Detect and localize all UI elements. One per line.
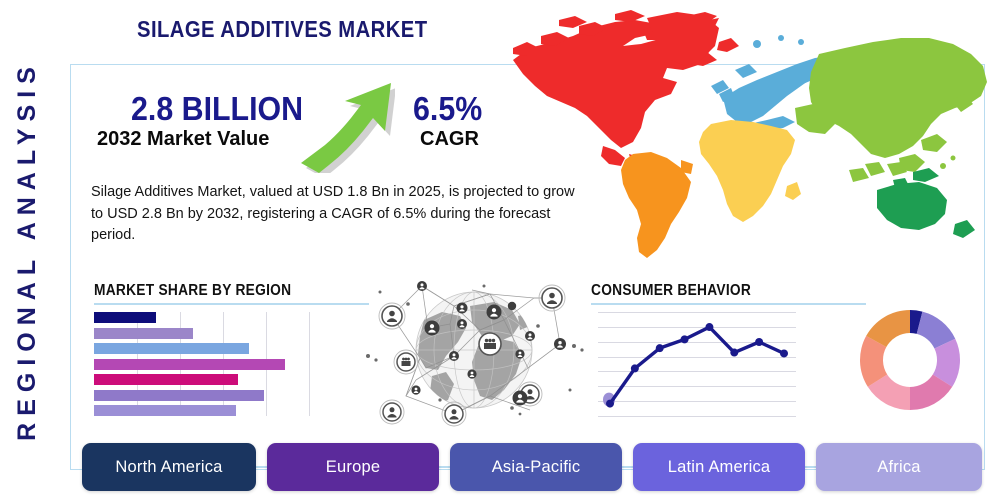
market-share-divider <box>94 303 369 305</box>
bar-segment <box>94 343 249 354</box>
page-title: SILAGE ADDITIVES MARKET <box>137 16 427 43</box>
world-map-illustration <box>495 8 995 266</box>
bar-chart-bars <box>94 312 309 416</box>
bar-segment <box>94 374 238 385</box>
bar-segment <box>94 405 236 416</box>
line-marker <box>730 349 738 357</box>
network-globe-illustration <box>362 272 590 428</box>
consumer-behavior-heading: CONSUMER BEHAVIOR <box>591 282 751 300</box>
donut-chart <box>854 304 966 416</box>
region-button-north-america[interactable]: North America <box>82 443 256 491</box>
line-marker <box>780 349 788 357</box>
line-marker <box>606 400 614 408</box>
line-chart-series <box>598 312 796 416</box>
bar-gridline <box>309 312 310 416</box>
bar-segment <box>94 328 193 339</box>
region-button-latin-america[interactable]: Latin America <box>633 443 805 491</box>
line-marker <box>681 335 689 343</box>
bar-segment <box>94 390 264 401</box>
cagr-figure: 6.5% <box>413 90 482 128</box>
bar-row <box>94 343 309 354</box>
region-button-africa[interactable]: Africa <box>816 443 982 491</box>
vertical-side-label: REGIONAL ANALYSIS <box>0 0 58 500</box>
consumer-behavior-line-chart <box>598 312 796 416</box>
line-gridline <box>598 416 796 417</box>
side-label-text: REGIONAL ANALYSIS <box>13 60 42 441</box>
region-button-europe[interactable]: Europe <box>267 443 439 491</box>
cagr-label: CAGR <box>420 128 479 151</box>
bar-row <box>94 312 309 323</box>
map-africa <box>699 120 801 222</box>
market-share-heading: MARKET SHARE BY REGION <box>94 282 291 300</box>
line-marker <box>705 323 713 331</box>
bar-row <box>94 374 309 385</box>
region-button-bar: North AmericaEuropeAsia-PacificLatin Ame… <box>82 443 982 491</box>
growth-arrow-icon <box>295 78 395 173</box>
market-share-bar-chart <box>94 312 309 416</box>
bar-segment <box>94 359 285 370</box>
consumer-behavior-divider <box>591 303 866 305</box>
map-asia <box>795 38 987 182</box>
market-value-label: 2032 Market Value <box>97 128 269 151</box>
region-button-asia-pacific[interactable]: Asia-Pacific <box>450 443 622 491</box>
bar-row <box>94 328 309 339</box>
bar-row <box>94 390 309 401</box>
infographic-root: REGIONAL ANALYSIS SILAGE ADDITIVES MARKE… <box>0 0 1000 500</box>
line-marker <box>656 344 664 352</box>
line-marker <box>631 364 639 372</box>
bar-row <box>94 359 309 370</box>
line-marker <box>755 338 763 346</box>
map-oceania <box>877 168 975 238</box>
market-value-figure: 2.8 BILLION <box>131 90 303 128</box>
map-south-america <box>621 152 693 258</box>
bar-segment <box>94 312 156 323</box>
bar-row <box>94 405 309 416</box>
